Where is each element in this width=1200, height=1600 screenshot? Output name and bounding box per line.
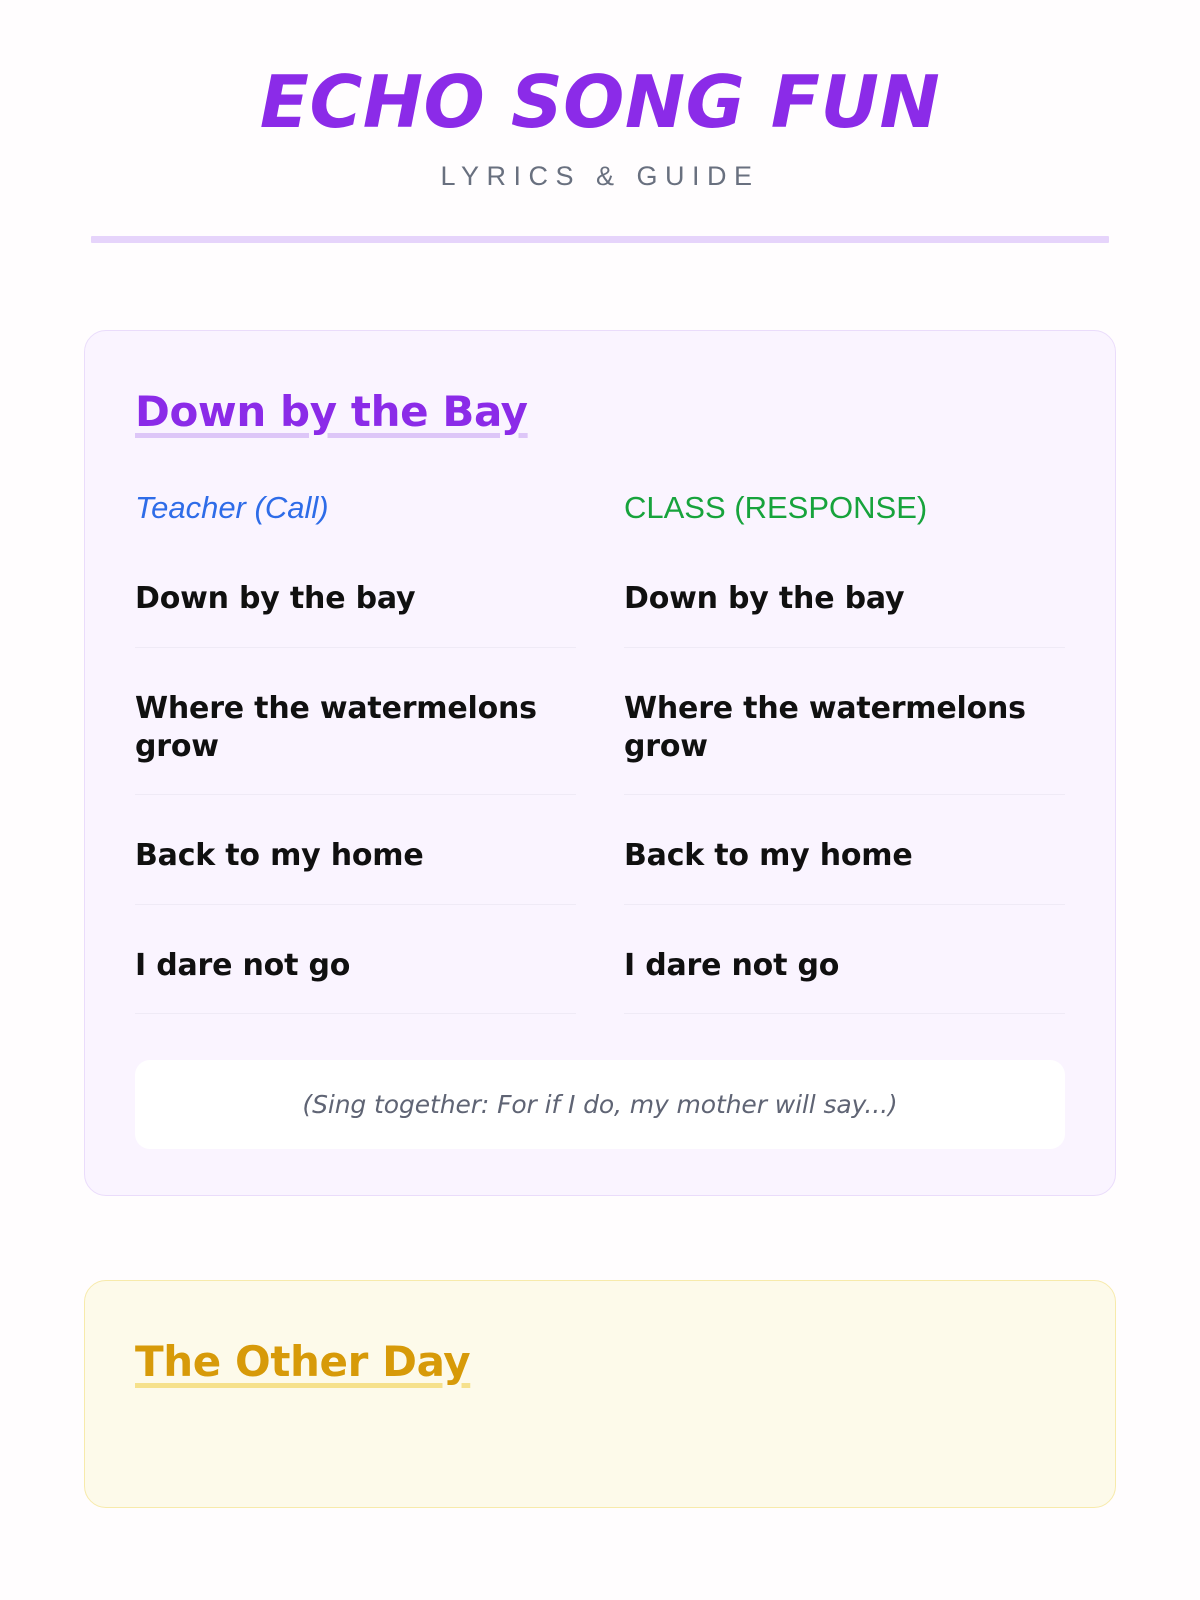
page-title: ECHO SONG FUN (0, 66, 1200, 139)
lyric-call-cell: Down by the bay (135, 534, 576, 647)
lyric-response-cell: Where the watermelons grow (624, 648, 1065, 796)
song-card-down-by-the-bay[interactable]: Down by the Bay Teacher (Call) CLASS (RE… (84, 330, 1116, 1196)
lyric-response-cell: I dare not go (624, 905, 1065, 1014)
song-card-the-other-day[interactable]: The Other Day (84, 1280, 1116, 1508)
song-title: Down by the Bay (135, 387, 528, 437)
lyric-call-cell: Where the watermelons grow (135, 648, 576, 796)
page-root: ECHO SONG FUN LYRICS & GUIDE Down by the… (0, 0, 1200, 1600)
lyric-call-cell: I dare not go (135, 905, 576, 1014)
sing-together-note-box: (Sing together: For if I do, my mother w… (135, 1060, 1065, 1149)
lyric-response-cell: Back to my home (624, 795, 1065, 904)
page-subtitle: LYRICS & GUIDE (0, 161, 1200, 192)
column-header-teacher-call: Teacher (Call) (135, 489, 576, 534)
masthead: ECHO SONG FUN LYRICS & GUIDE (0, 0, 1200, 243)
sing-together-note-text: (Sing together: For if I do, my mother w… (302, 1090, 897, 1119)
header-divider (91, 236, 1109, 243)
lyric-call-cell: Back to my home (135, 795, 576, 904)
song-title: The Other Day (135, 1337, 470, 1387)
call-response-table: Teacher (Call) CLASS (RESPONSE) Down by … (135, 489, 1065, 1014)
song-card-list: Down by the Bay Teacher (Call) CLASS (RE… (0, 330, 1200, 1507)
column-header-class-response: CLASS (RESPONSE) (624, 489, 1065, 534)
lyric-response-cell: Down by the bay (624, 534, 1065, 647)
